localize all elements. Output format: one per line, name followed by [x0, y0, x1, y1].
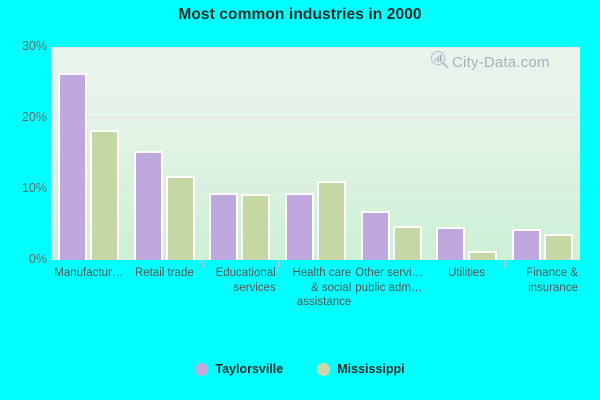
x-axis-category-label: Utilities — [431, 266, 503, 281]
legend-item-mississippi[interactable]: Mississippi — [317, 362, 404, 376]
bar[interactable] — [393, 226, 422, 260]
x-axis-category-label: Finance & insurance — [506, 266, 578, 295]
y-axis-tick-label: 30% — [3, 39, 47, 53]
x-axis-category-label: Other servi… public adm… — [355, 266, 427, 295]
y-axis-tick-label: 0% — [3, 252, 47, 266]
bar[interactable] — [512, 229, 541, 260]
bar[interactable] — [361, 211, 390, 260]
category-separator — [353, 260, 354, 268]
plot-area — [51, 47, 580, 260]
legend-item-label: Mississippi — [337, 362, 404, 376]
bar[interactable] — [317, 181, 346, 260]
gridline — [51, 189, 580, 190]
bar[interactable] — [209, 193, 238, 260]
gridline — [51, 47, 580, 48]
bar[interactable] — [58, 73, 87, 260]
legend-swatch-icon — [317, 363, 330, 376]
x-axis-category-label: Educational services — [204, 266, 276, 295]
y-axis-tick-label: 10% — [3, 181, 47, 195]
chart-title: Most common industries in 2000 — [0, 6, 600, 24]
watermark: City-Data.com — [430, 50, 550, 74]
category-separator — [278, 260, 279, 268]
watermark-label: City-Data.com — [452, 54, 550, 71]
magnifier-bars-icon — [430, 50, 449, 74]
category-separator — [202, 260, 203, 268]
category-separator — [127, 260, 128, 268]
legend-item-taylorsville[interactable]: Taylorsville — [195, 362, 283, 376]
x-axis-category-label: Retail trade — [129, 266, 201, 281]
category-separator — [429, 260, 430, 268]
category-separator — [504, 260, 505, 268]
y-axis-tick-label: 20% — [3, 110, 47, 124]
legend-swatch-icon — [195, 363, 208, 376]
x-axis-category-label: Manufactur… — [53, 266, 125, 281]
bar[interactable] — [436, 227, 465, 260]
bar[interactable] — [544, 234, 573, 260]
y-axis: 0%10%20%30% — [0, 47, 47, 260]
legend-item-label: Taylorsville — [215, 362, 283, 376]
bar[interactable] — [285, 193, 314, 260]
chart-legend: Taylorsville Mississippi — [0, 362, 600, 376]
bar[interactable] — [134, 151, 163, 260]
bar[interactable] — [468, 251, 497, 260]
bar[interactable] — [166, 176, 195, 260]
bar[interactable] — [90, 130, 119, 260]
gridline — [51, 118, 580, 119]
x-axis-category-label: Health care & social assistance — [280, 266, 352, 310]
bar[interactable] — [241, 194, 270, 260]
